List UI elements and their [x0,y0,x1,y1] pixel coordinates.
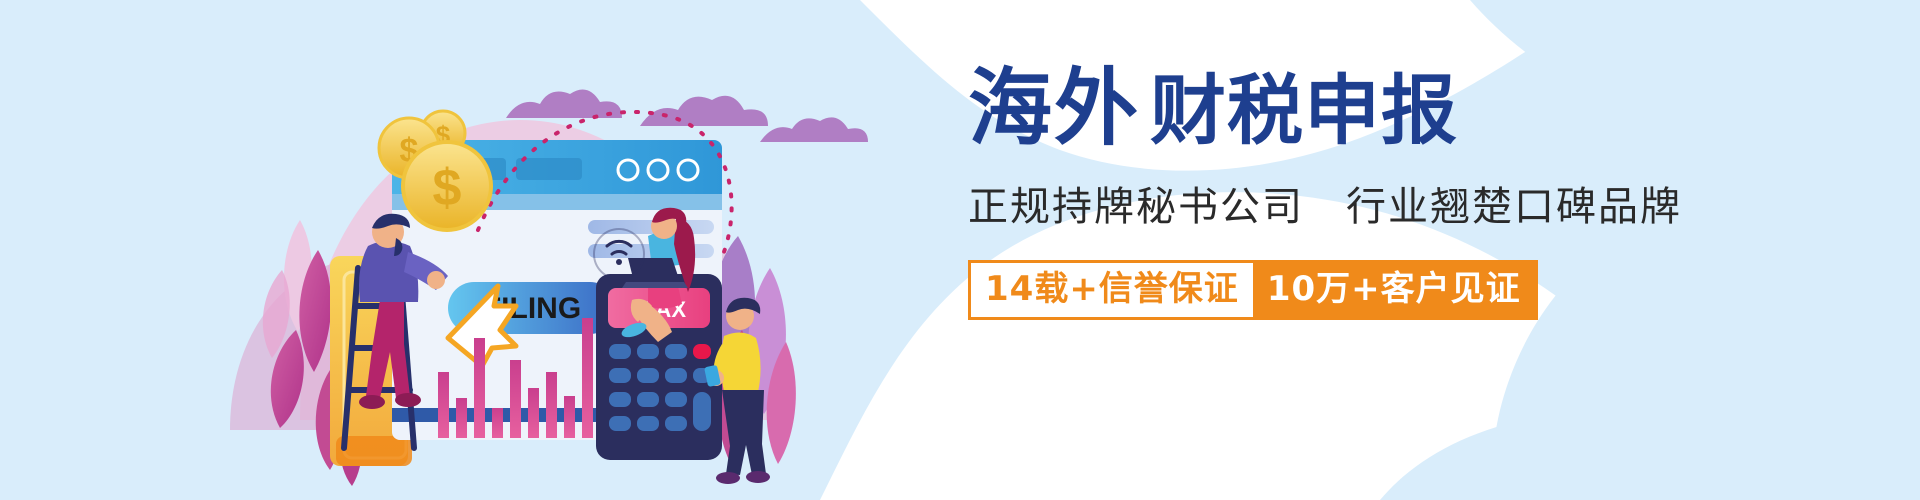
banner-root: FILING $ $ $ [0,0,1920,500]
illustration: FILING $ $ $ [0,0,920,500]
coin-large: $ [403,142,491,230]
headline-primary: 海外 [968,59,1140,157]
headline-secondary: 财税申报 [1150,66,1458,155]
page-title: 海外财税申报 [968,66,1688,150]
badge-customers: 10万+客户见证 [1253,260,1538,320]
subtitle: 正规持牌秘书公司 行业翘楚口碑品牌 [968,174,1688,232]
badge-years: 14载+信誉保证 [968,260,1253,320]
copy-block: 海外财税申报 正规持牌秘书公司 行业翘楚口碑品牌 14载+信誉保证 10万+客户… [968,66,1688,366]
badge-row: 14载+信誉保证 10万+客户见证 [968,260,1538,320]
svg-text:$: $ [433,159,462,217]
